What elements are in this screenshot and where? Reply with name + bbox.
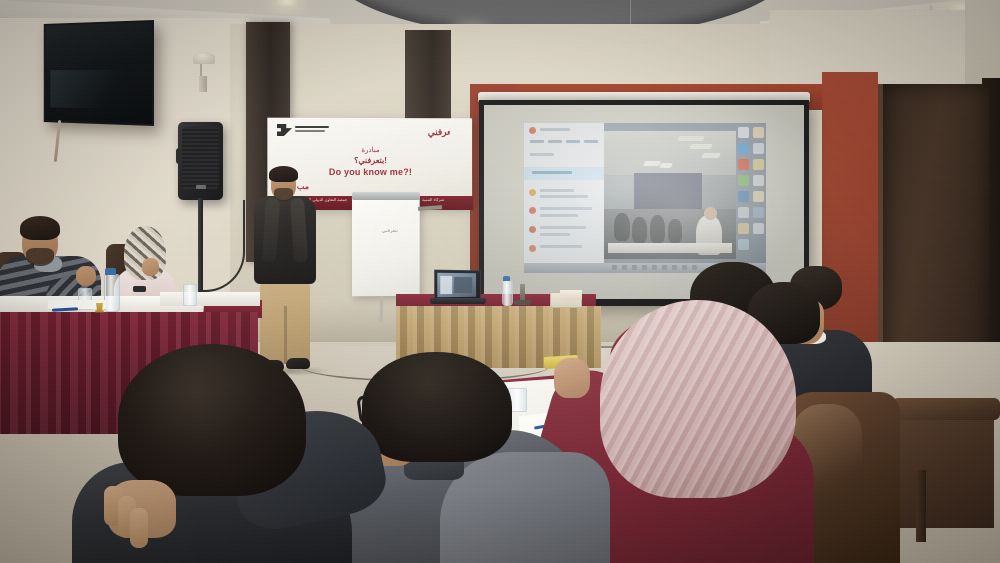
organization-logo-wordmark bbox=[295, 126, 329, 134]
wristwatch bbox=[133, 286, 146, 292]
chat-label bbox=[530, 153, 554, 156]
wooden-door[interactable] bbox=[878, 84, 989, 366]
tv-screen-reflection bbox=[50, 70, 138, 110]
organization-logo-mark bbox=[277, 124, 292, 136]
chat-title-line bbox=[540, 128, 570, 131]
chat-avatar bbox=[529, 127, 536, 134]
chat-avatar bbox=[529, 245, 536, 252]
laptop-video-panel bbox=[454, 277, 472, 293]
speaker-grille bbox=[182, 127, 219, 189]
flipchart-clamp bbox=[352, 192, 420, 200]
laptop-chat-panel bbox=[440, 276, 452, 294]
microphone-base bbox=[514, 300, 531, 305]
accent-panel-right bbox=[822, 72, 878, 362]
laptop-base bbox=[430, 298, 486, 304]
wall-sconce-lamp bbox=[193, 52, 215, 64]
chat-tool bbox=[530, 140, 544, 143]
flipchart-easel bbox=[352, 196, 420, 296]
video-call-desktop bbox=[524, 123, 766, 273]
desktop-icon[interactable] bbox=[753, 127, 764, 138]
banner-subtitle-english: Do you know me?! bbox=[268, 167, 473, 177]
seated-man-beard bbox=[26, 248, 54, 266]
wall-mounted-tv[interactable] bbox=[44, 20, 154, 126]
wall-sconce-base bbox=[199, 76, 207, 92]
banner-subtitle-arabic: بتعرفني؟! bbox=[268, 156, 473, 165]
projection-hotspot bbox=[564, 141, 804, 291]
participant-hair bbox=[118, 344, 306, 496]
drinking-glass bbox=[183, 284, 197, 306]
bottle-cap bbox=[503, 276, 510, 281]
chair-seat[interactable] bbox=[892, 398, 1000, 420]
presenter-hair bbox=[269, 166, 298, 182]
speaker-badge bbox=[196, 185, 206, 189]
photo-scene: بتعرفني مبادرة بتعرفني؟! Do you know me?… bbox=[0, 0, 1000, 563]
seated-man-hair bbox=[20, 216, 60, 240]
flipchart-writing: بتعرفني bbox=[372, 228, 408, 234]
presenter-shoe bbox=[286, 358, 310, 369]
chat-tool bbox=[548, 140, 562, 143]
water-bottle bbox=[104, 274, 120, 312]
chat-avatar bbox=[529, 226, 536, 233]
participant-shoulder bbox=[440, 452, 610, 563]
organization-logo bbox=[277, 124, 329, 137]
hijab-pattern bbox=[600, 300, 796, 498]
pendant-rod bbox=[630, 0, 631, 26]
seated-woman-hand bbox=[142, 258, 159, 276]
participant-hair bbox=[362, 352, 512, 462]
cardboard-box bbox=[560, 290, 582, 300]
desktop-icon[interactable] bbox=[738, 127, 749, 138]
seated-man-hand bbox=[76, 266, 96, 286]
participant-hand bbox=[554, 358, 590, 398]
presenter-trouser-seam bbox=[284, 306, 287, 364]
chat-avatar bbox=[529, 189, 536, 196]
water-bottle bbox=[502, 280, 513, 306]
laptop-screen-content bbox=[437, 273, 476, 297]
chair-leg bbox=[916, 470, 926, 542]
head-table-runner bbox=[160, 292, 260, 306]
banner-title-arabic: مبادرة bbox=[268, 146, 473, 154]
finger bbox=[130, 508, 148, 548]
chat-avatar bbox=[529, 207, 536, 214]
speaker-handle bbox=[176, 148, 181, 164]
bottle-cap bbox=[105, 268, 116, 275]
presenter-beard bbox=[274, 188, 293, 201]
